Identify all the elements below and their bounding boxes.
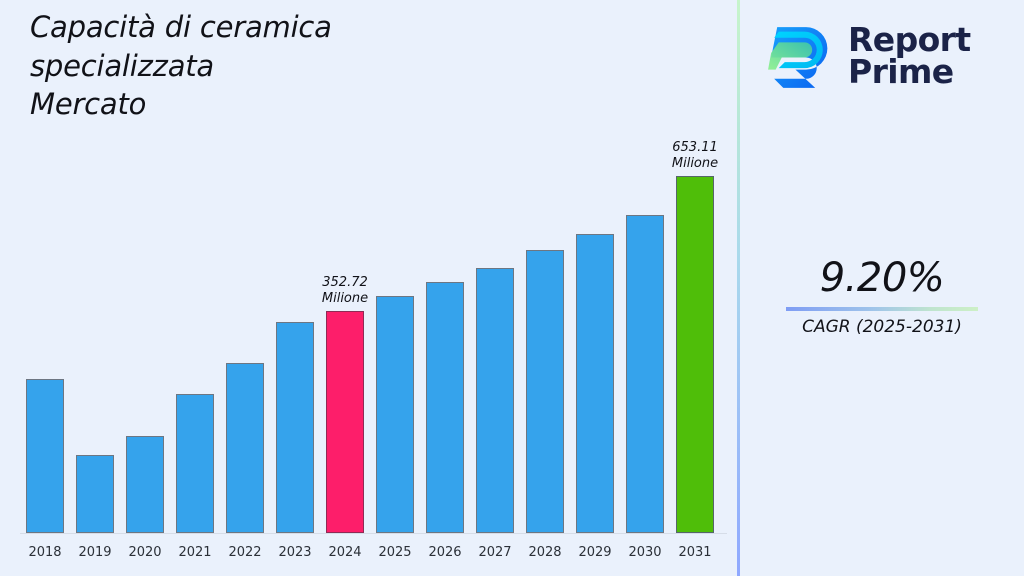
x-tick-2018: 2018 [20,545,70,560]
bar-2030[interactable] [626,215,664,533]
bar-2031[interactable] [676,176,714,533]
bar-slot-2024: 352.72 Milione [320,130,370,533]
bar-2027[interactable] [476,268,514,533]
brand-logo: Report Prime [762,12,1012,100]
x-tick-2021: 2021 [170,545,220,560]
brand-name: Report Prime [848,24,971,89]
cagr-block: 9.20% CAGR (2025-2031) [740,255,1024,337]
bar-2024[interactable] [326,311,364,533]
bar-slot-2031: 653.11 Milione [670,130,720,533]
bar-2023[interactable] [276,322,314,533]
bar-slot-2030 [620,130,670,533]
bar-chart-plot-area: 352.72 Milione653.11 Milione [0,130,738,533]
report-prime-logo-icon [762,18,838,94]
cagr-value: 9.20% [740,255,1024,301]
bar-2025[interactable] [376,296,414,533]
bar-slot-2026 [420,130,470,533]
chart-infographic: Capacità di ceramica specializzata Merca… [0,0,1024,576]
bar-slot-2029 [570,130,620,533]
x-tick-2020: 2020 [120,545,170,560]
bar-slot-2022 [220,130,270,533]
cagr-caption: CAGR (2025-2031) [740,317,1024,337]
x-tick-2031: 2031 [670,545,720,560]
chart-panel: Capacità di ceramica specializzata Merca… [0,0,738,576]
x-tick-2030: 2030 [620,545,670,560]
bar-2028[interactable] [526,250,564,533]
x-tick-2027: 2027 [470,545,520,560]
chart-title: Capacità di ceramica specializzata Merca… [30,8,500,124]
x-tick-2024: 2024 [320,545,370,560]
x-tick-2023: 2023 [270,545,320,560]
x-tick-2025: 2025 [370,545,420,560]
x-axis-line [20,533,727,534]
bar-slot-2027 [470,130,520,533]
bar-2029[interactable] [576,234,614,533]
bar-2021[interactable] [176,394,214,533]
bar-value-label-2031: 653.11 Milione [653,140,737,173]
bar-slot-2018 [20,130,70,533]
brand-panel: Report Prime 9.20% CAGR (2025-2031) [740,0,1024,576]
x-tick-2028: 2028 [520,545,570,560]
x-tick-2029: 2029 [570,545,620,560]
bar-2026[interactable] [426,282,464,533]
brand-name-line2: Prime [848,52,954,91]
bar-slot-2023 [270,130,320,533]
bar-slot-2019 [70,130,120,533]
x-tick-2026: 2026 [420,545,470,560]
bar-slot-2020 [120,130,170,533]
bar-slot-2021 [170,130,220,533]
cagr-divider-rule [786,307,978,311]
bar-2018[interactable] [26,379,64,533]
bar-slot-2025 [370,130,420,533]
bar-2020[interactable] [126,436,164,533]
bar-2019[interactable] [76,455,114,533]
bar-slot-2028 [520,130,570,533]
bar-2022[interactable] [226,363,264,533]
x-tick-2019: 2019 [70,545,120,560]
x-tick-2022: 2022 [220,545,270,560]
